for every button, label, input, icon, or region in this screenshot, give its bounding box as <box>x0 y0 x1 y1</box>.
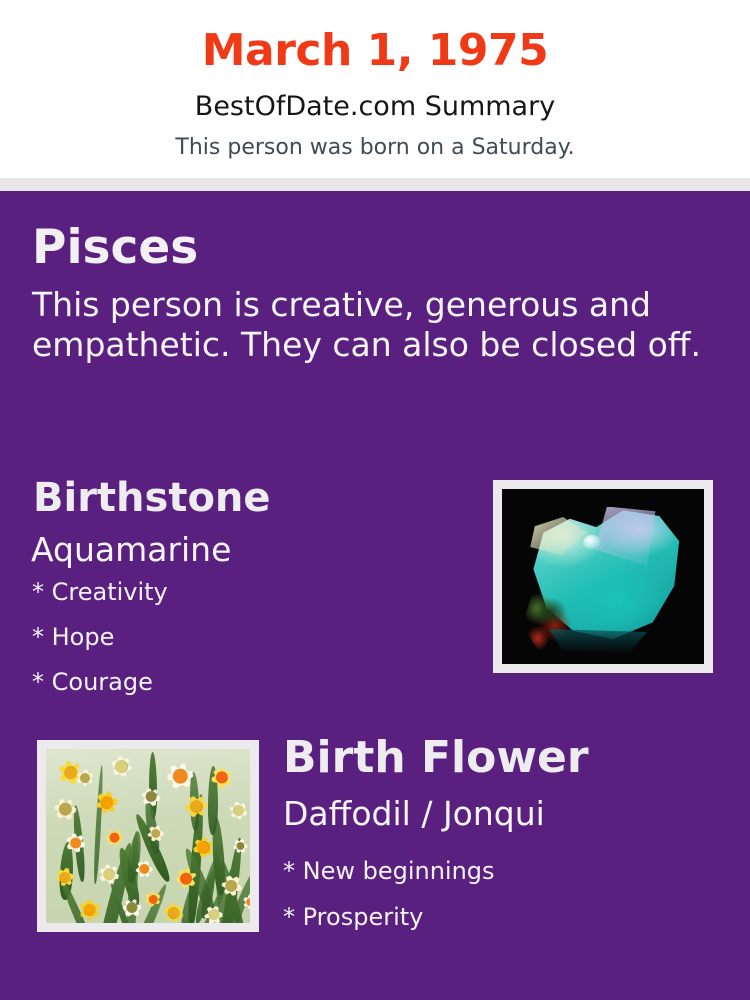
crystal-highlight <box>583 535 601 551</box>
birth-flower-heading: Birth Flower <box>283 736 589 780</box>
list-item: * Hope <box>32 625 168 649</box>
birth-flower-image <box>46 749 250 923</box>
list-item: * Creativity <box>32 580 168 604</box>
summary-card: March 1, 1975 BestOfDate.com Summary Thi… <box>0 0 750 1000</box>
daffodil-bloom <box>46 788 87 831</box>
birthstone-name: Aquamarine <box>31 533 231 566</box>
list-item: * Courage <box>32 670 168 694</box>
daffodil-bloom <box>221 793 250 827</box>
daffodil-field-icon <box>46 749 250 923</box>
aquamarine-crystal-icon <box>502 489 704 664</box>
crystal-inclusion-dark <box>534 598 566 626</box>
flower-corona <box>138 864 149 875</box>
birth-day-note: This person was born on a Saturday. <box>0 120 750 159</box>
list-item: * Prosperity <box>283 905 495 929</box>
daffodil-bloom <box>144 822 168 846</box>
birthstone-image-frame <box>493 480 713 673</box>
daffodil-bloom <box>102 749 141 786</box>
list-item: * New beginnings <box>283 859 495 883</box>
zodiac-sign-title: Pisces <box>32 224 198 271</box>
crystal-base-shadow <box>542 629 653 654</box>
card-header: March 1, 1975 BestOfDate.com Summary Thi… <box>0 0 750 178</box>
birth-flower-trait-list: * New beginnings * Prosperity <box>283 859 495 951</box>
daffodil-bloom <box>229 836 250 857</box>
birthstone-heading: Birthstone <box>33 478 271 518</box>
birthstone-trait-list: * Creativity * Hope * Courage <box>32 580 168 715</box>
birth-flower-name: Daffodil / Jonqui <box>283 797 545 830</box>
birthstone-image <box>502 489 704 664</box>
birth-flower-image-frame <box>37 740 259 932</box>
site-summary-label: BestOfDate.com Summary <box>0 73 750 120</box>
page-title-date: March 1, 1975 <box>0 0 750 73</box>
flower-corona <box>208 909 219 920</box>
header-divider-band <box>0 178 750 191</box>
zodiac-description: This person is creative, generous and em… <box>32 285 704 365</box>
details-panel: Pisces This person is creative, generous… <box>0 191 750 1000</box>
daffodil-bloom <box>90 786 124 820</box>
daffodil-bloom <box>51 863 79 891</box>
